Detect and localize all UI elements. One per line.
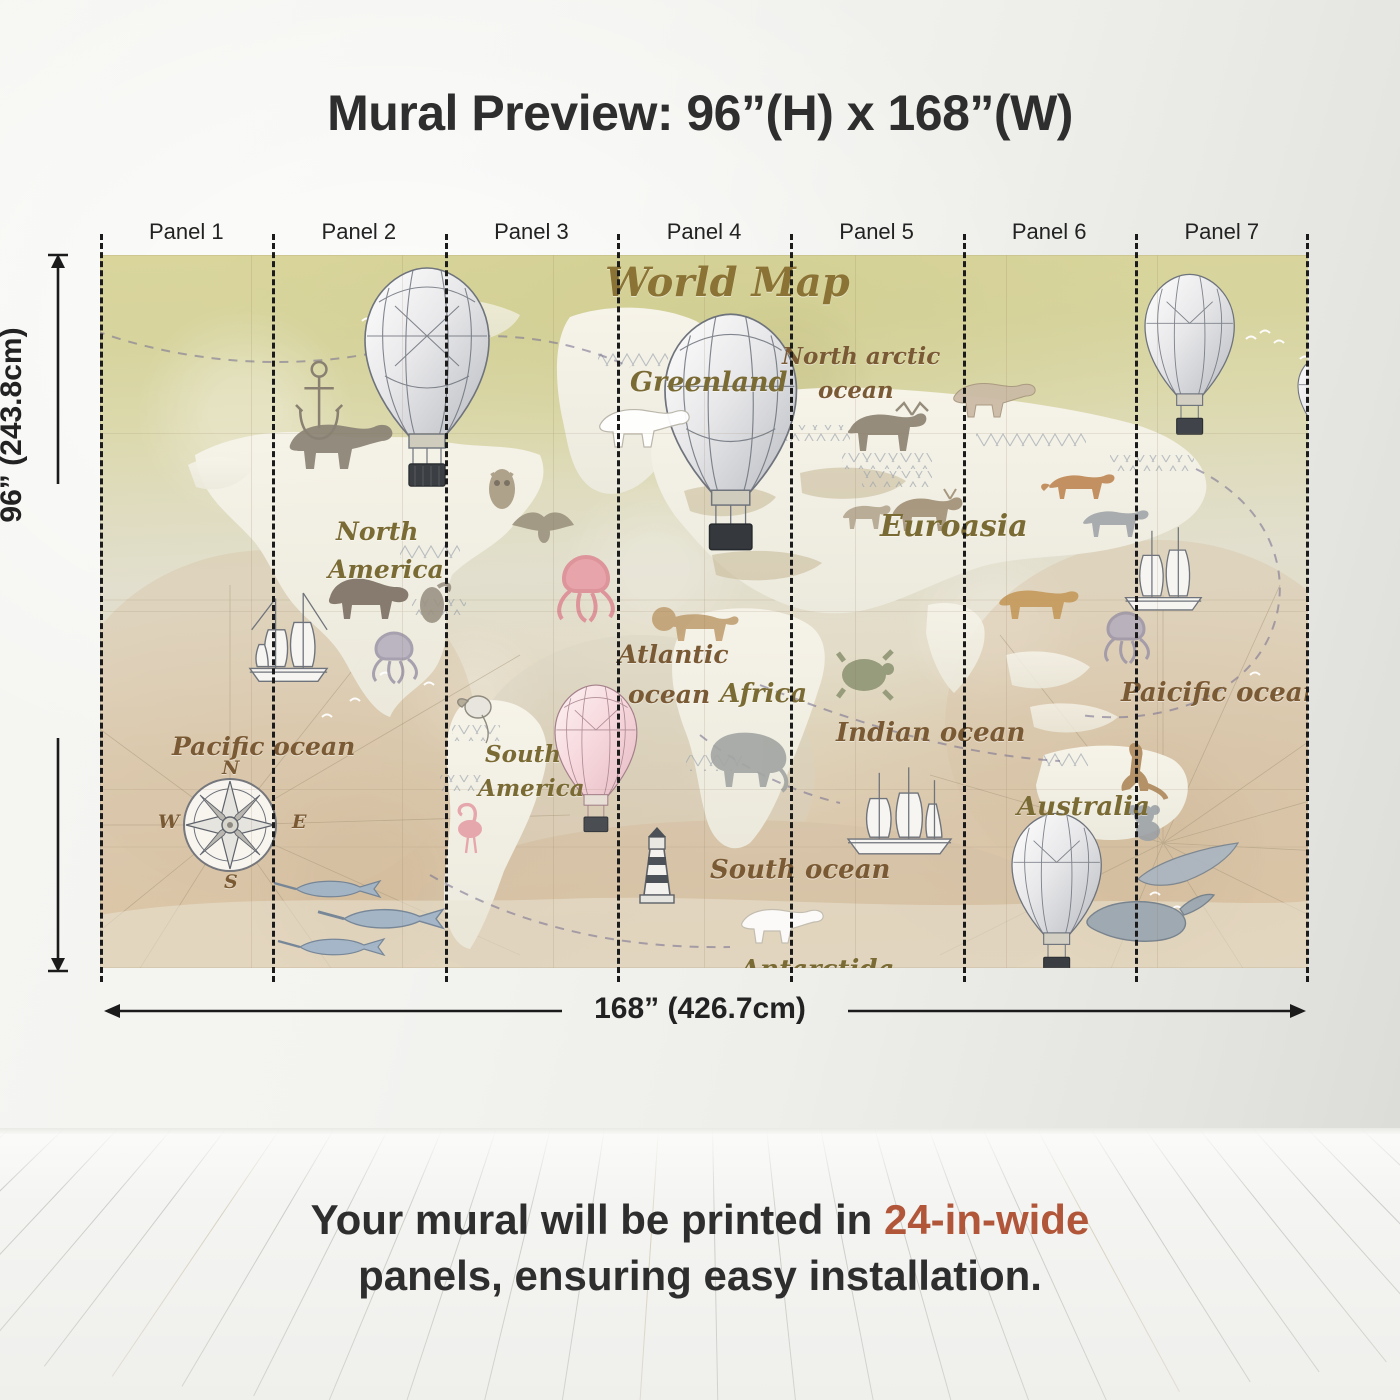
map-label-antarctida: Antarctida — [740, 955, 894, 968]
floor-wall-join — [0, 1128, 1400, 1134]
mural-edge-right — [1306, 234, 1309, 982]
map-label-south: South — [485, 741, 561, 768]
mural-artwork — [100, 255, 1308, 968]
height-dimension-label: 96” (243.8cm) — [0, 305, 29, 545]
map-label-greenland: Greenland — [630, 367, 788, 398]
footer-accent-text: 24-in-wide — [884, 1196, 1089, 1243]
map-label-africa: Africa — [720, 679, 807, 709]
compass-south-label: S — [224, 871, 238, 893]
map-label-indian-ocean: Indian ocean — [836, 718, 1025, 748]
height-dimension-arrow — [40, 248, 76, 978]
artwork-title: World Map — [605, 259, 850, 306]
owl-icon — [489, 469, 515, 509]
panel-label-4: Panel 4 — [618, 216, 791, 248]
panel-divider-6-7 — [1135, 234, 1138, 982]
map-label-ocean: ocean — [628, 680, 710, 709]
map-label-south-ocean: South ocean — [710, 855, 890, 885]
panel-divider-4-5 — [790, 234, 793, 982]
map-label-north: North — [336, 517, 418, 546]
map-label-america: America — [478, 775, 585, 802]
panel-divider-2-3 — [445, 234, 448, 982]
eagle-icon — [512, 512, 574, 543]
turtle-icon — [838, 651, 894, 699]
compass-west-label: W — [158, 811, 179, 833]
panel-divider-3-4 — [617, 234, 620, 982]
compass-north-label: N — [222, 757, 239, 779]
panel-label-3: Panel 3 — [445, 216, 618, 248]
panel-divider-1-2 — [272, 234, 275, 982]
mural-preview-image: World Map GreenlandNorthAmericaPacific o… — [100, 255, 1308, 968]
panel-label-2: Panel 2 — [273, 216, 446, 248]
octopus-icon — [559, 557, 613, 621]
map-label-paicific-ocean: Paicific ocean — [1121, 678, 1308, 708]
panel-label-7: Panel 7 — [1135, 216, 1308, 248]
footer-line2: panels, ensuring easy installation. — [0, 1248, 1400, 1304]
page-title: Mural Preview: 96”(H) x 168”(W) — [0, 84, 1400, 142]
sailing-ship-icon — [848, 767, 951, 853]
hot-air-balloon-icon — [1145, 274, 1234, 434]
map-label-euroasia: Euroasia — [880, 509, 1028, 544]
map-label-america: America — [328, 555, 444, 584]
map-label-australia: Australia — [1017, 792, 1150, 822]
width-dimension-label: 168” (426.7cm) — [0, 992, 1400, 1026]
footer-line1-prefix: Your mural will be printed in — [311, 1196, 884, 1243]
mural-edge-left — [100, 234, 103, 982]
panel-label-6: Panel 6 — [963, 216, 1136, 248]
map-label-atlantic: Atlantic — [618, 640, 729, 669]
map-label-ocean: ocean — [818, 377, 894, 404]
map-label-north-arctic: North arctic — [782, 343, 940, 370]
panel-divider-5-6 — [963, 234, 966, 982]
compass-rose-icon — [184, 779, 276, 871]
footer-message: Your mural will be printed in 24-in-wide… — [0, 1192, 1400, 1304]
panel-label-row: Panel 1 Panel 2 Panel 3 Panel 4 Panel 5 … — [100, 216, 1308, 248]
compass-east-label: E — [292, 811, 306, 833]
map-label-pacific-ocean: Pacific ocean — [172, 732, 355, 761]
panel-label-5: Panel 5 — [790, 216, 963, 248]
panel-label-1: Panel 1 — [100, 216, 273, 248]
